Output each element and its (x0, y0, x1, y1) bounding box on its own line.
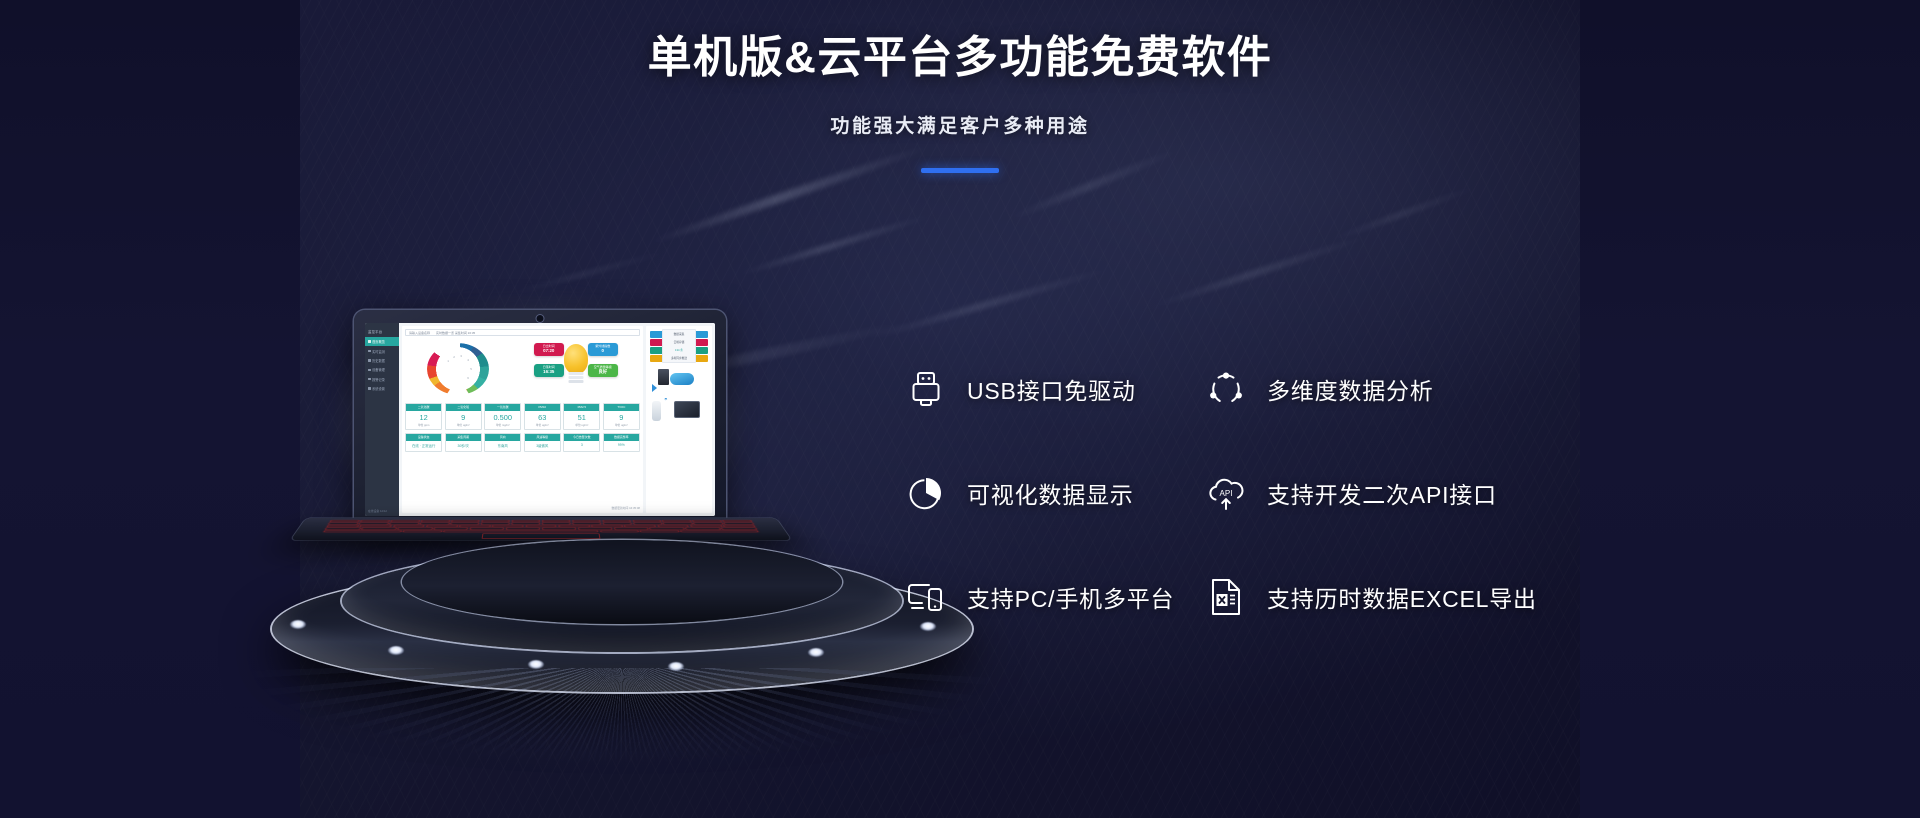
kpi-value: 0.500 (485, 411, 520, 422)
ribbon-note: 多端同步推送 (662, 356, 696, 360)
gear-icon (368, 387, 371, 390)
feature-list: USB接口免驱动 多维度数据分析 (905, 368, 1605, 618)
environment-gauge-chart: 1 2 3 4 5 6 (427, 343, 489, 395)
cloud-api-icon: API (1205, 472, 1247, 514)
kpi-caption: 风向 (485, 434, 520, 441)
feature-label: USB接口免驱动 (967, 372, 1136, 406)
ribbon-title: 数据采集 (662, 332, 696, 336)
usb-icon (905, 368, 947, 410)
server-icon (658, 369, 669, 385)
ribbon-sub: 云端存储 (662, 340, 696, 344)
kpi-card: 数据完整率99% (603, 433, 640, 452)
feature-label: 支持历时数据EXCEL导出 (1267, 580, 1537, 614)
devices-icon (905, 576, 947, 618)
pedestal-led (920, 622, 936, 631)
dashboard-toolbar[interactable]: 请输入设备名称 实时数据一览 采集时间 16:35 (405, 329, 640, 336)
info-bubble: 紫外线指数 0 (588, 343, 618, 356)
wifi-icon: ◓ (664, 397, 668, 403)
kpi-caption: 设备状态 (406, 434, 441, 441)
kpi-card: 设备状态在线 · 正常运行 (405, 433, 442, 452)
display-pedestal (260, 548, 984, 698)
kpi-unit: 单位 ug/m³ (525, 422, 560, 429)
feature-label: 可视化数据显示 (967, 476, 1134, 510)
sidebar-item-label: 设备管理 (372, 367, 385, 372)
lightbulb-base (568, 372, 583, 375)
sidebar-item-label: 系统设置 (372, 386, 385, 391)
cloud-icon (670, 373, 694, 385)
feature-item-multidimensional-analysis[interactable]: 多维度数据分析 (1205, 368, 1585, 410)
pedestal-led (808, 648, 824, 657)
laptop-screen: 监控平台 首页概览 实时监测 历史数据 设备管理 报警记录 系统设置 在线设备 … (365, 323, 715, 516)
sidebar-item-devices[interactable]: 设备管理 (365, 365, 399, 374)
feature-label: 支持开发二次API接口 (1267, 476, 1497, 510)
keyboard (323, 520, 759, 532)
keyboard-row (328, 523, 754, 525)
air-quality-infographic: 日出时间 07:20 紫外线指数 0 日落时间 16:35 (534, 340, 618, 398)
kpi-caption: 数据完整率 (604, 434, 639, 441)
sidebar-item-label: 报警记录 (372, 377, 385, 382)
grid-icon (368, 340, 371, 343)
bell-icon (368, 378, 371, 381)
hero-page: 单机版&云平台多功能免费软件 功能强大满足客户多种用途 监控平台 首页概览 实时… (0, 0, 1920, 818)
sensor-device-icon (652, 401, 661, 421)
laptop-lid: 监控平台 首页概览 实时监测 历史数据 设备管理 报警记录 系统设置 在线设备 … (354, 310, 726, 532)
ribbon-value: 134 条 (662, 348, 696, 352)
pedestal-led (290, 620, 306, 629)
kpi-card: 采集周期30秒/次 (445, 433, 482, 452)
arrow-icon (652, 384, 657, 392)
keyboard-row (325, 528, 757, 530)
pie-chart-icon (905, 472, 947, 514)
accent-divider (921, 168, 999, 173)
kpi-card: 二氧化硫9单位 ug/m³ (445, 403, 482, 430)
chip-icon (368, 369, 371, 372)
dashboard-visuals: 1 2 3 4 5 6 (405, 338, 640, 400)
gauge-tick: 2 (453, 355, 455, 359)
dashboard-brand: 监控平台 (365, 327, 399, 337)
keyboard-row (326, 525, 755, 527)
toolbar-hint: 实时数据一览 采集时间 16:35 (436, 331, 475, 335)
dashboard-right-column: 数据采集 云端存储 134 条 多端同步推送 ◓ (646, 326, 712, 513)
kpi-caption: 二氧化硫 (446, 404, 481, 411)
sidebar-item-label: 历史数据 (372, 358, 385, 363)
svg-text:API: API (1220, 489, 1233, 498)
keyboard-row (323, 530, 759, 532)
sidebar-item-overview[interactable]: 首页概览 (365, 337, 399, 346)
laptop-base (291, 518, 792, 540)
kpi-card: PM2.551单位 ug/m³ (563, 403, 600, 430)
bubble-value: 07:20 (543, 349, 554, 354)
ribbon-infographic: 数据采集 云端存储 134 条 多端同步推送 (650, 329, 708, 363)
sidebar-item-label: 首页概览 (372, 339, 385, 344)
bubble-value: 0 (602, 349, 604, 354)
feature-label: 支持PC/手机多平台 (967, 580, 1174, 614)
kpi-grid-primary: 二氧化碳12单位 ppm 二氧化硫9单位 ug/m³ 一氧化碳0.500单位 m… (405, 403, 640, 430)
kpi-caption: TVOC (604, 404, 639, 411)
gauge-tick: 4 (467, 358, 469, 362)
feature-item-api[interactable]: API 支持开发二次API接口 (1205, 472, 1585, 514)
kpi-unit: 单位 ug/m³ (604, 422, 639, 429)
search-input[interactable]: 请输入设备名称 (409, 331, 430, 335)
dashboard-footer-note: 数据更新时间 16:35:08 (405, 506, 640, 510)
kpi-caption: 采集周期 (446, 434, 481, 441)
page-subtitle: 功能强大满足客户多种用途 (0, 111, 1920, 138)
tablet-icon (674, 401, 700, 418)
kpi-value: 99% (604, 441, 639, 450)
pedestal-floor-rays (242, 668, 1002, 764)
sidebar-item-settings[interactable]: 系统设置 (365, 384, 399, 393)
kpi-card: 今日告警次数3 (563, 433, 600, 452)
kpi-card: 一氧化碳0.500单位 mg/m³ (484, 403, 521, 430)
bubble-value: 16:35 (543, 370, 554, 375)
device-illustration: ◓ (650, 397, 708, 423)
feature-item-visualization[interactable]: 可视化数据显示 (905, 472, 1205, 514)
kpi-value: 在线 · 正常运行 (406, 441, 441, 451)
kpi-value: 12 (406, 411, 441, 422)
kpi-value: 9 (604, 411, 639, 422)
bubble-value: 良好 (598, 370, 607, 375)
gauge-notch (445, 377, 471, 397)
page-title: 单机版&云平台多功能免费软件 (0, 30, 1920, 85)
kpi-value: 3级微风 (525, 441, 560, 451)
kpi-caption: 风速等级 (525, 434, 560, 441)
kpi-unit: 单位 ppm (406, 422, 441, 429)
info-bubble: 日落时间 16:35 (534, 364, 564, 377)
kpi-card: PM1063单位 ug/m³ (524, 403, 561, 430)
server-cloud-illustration (650, 367, 708, 393)
feature-item-excel-export[interactable]: 支持历时数据EXCEL导出 (1205, 576, 1585, 618)
kpi-unit: 单位 mg/m³ (485, 422, 520, 429)
kpi-value: 东南风 (485, 441, 520, 451)
kpi-card: 风向东南风 (484, 433, 521, 452)
sidebar-footer-status: 在线设备 12/12 (365, 506, 399, 516)
trackpad (482, 533, 601, 538)
kpi-caption: 今日告警次数 (564, 434, 599, 441)
dashboard-main: 请输入设备名称 实时数据一览 采集时间 16:35 1 2 (399, 323, 715, 516)
laptop-stage: 监控平台 首页概览 实时监测 历史数据 设备管理 报警记录 系统设置 在线设备 … (292, 320, 952, 740)
sidebar-item-history[interactable]: 历史数据 (365, 356, 399, 365)
kpi-value: 9 (446, 411, 481, 422)
kpi-value: 51 (564, 411, 599, 422)
dashboard-left-column: 请输入设备名称 实时数据一览 采集时间 16:35 1 2 (402, 326, 643, 513)
feature-item-multiplatform[interactable]: 支持PC/手机多平台 (905, 576, 1205, 618)
kpi-value: 3 (564, 441, 599, 450)
kpi-card: 风速等级3级微风 (524, 433, 561, 452)
pedestal-led (388, 646, 404, 655)
kpi-caption: PM2.5 (564, 404, 599, 411)
hero-header: 单机版&云平台多功能免费软件 功能强大满足客户多种用途 (0, 0, 1920, 173)
gauge-tick: 6 (467, 376, 469, 380)
kpi-value: 63 (525, 411, 560, 422)
kpi-unit: 单位 ug/m³ (446, 422, 481, 429)
gauge-tick: 5 (470, 367, 472, 371)
sidebar-item-alarms[interactable]: 报警记录 (365, 375, 399, 384)
clock-icon (368, 359, 371, 362)
feature-label: 多维度数据分析 (1267, 372, 1434, 406)
info-bubble: 日出时间 07:20 (534, 343, 564, 356)
kpi-value: 30秒/次 (446, 441, 481, 451)
kpi-card: TVOC9单位 ug/m³ (603, 403, 640, 430)
kpi-unit: 单位 ug/m³ (564, 422, 599, 429)
feature-item-usb[interactable]: USB接口免驱动 (905, 368, 1205, 410)
gauge-tick: 3 (460, 354, 462, 358)
kpi-card: 二氧化碳12单位 ppm (405, 403, 442, 430)
excel-file-icon (1205, 576, 1247, 618)
sidebar-item-realtime[interactable]: 实时监测 (365, 346, 399, 355)
kpi-caption: 二氧化碳 (406, 404, 441, 411)
gauge-tick: 1 (447, 359, 449, 363)
pulse-icon (368, 350, 371, 353)
kpi-grid-secondary: 设备状态在线 · 正常运行 采集周期30秒/次 风向东南风 风速等级3级微风 今… (405, 433, 640, 452)
dashboard-sidebar: 监控平台 首页概览 实时监测 历史数据 设备管理 报警记录 系统设置 在线设备 … (365, 323, 399, 516)
info-bubble: 空气质量等级 良好 (588, 364, 618, 377)
network-nodes-icon (1205, 368, 1247, 410)
pedestal-ring-inner (402, 540, 842, 624)
kpi-caption: PM10 (525, 404, 560, 411)
kpi-caption: 一氧化碳 (485, 404, 520, 411)
lightbulb-icon (564, 344, 588, 374)
sidebar-item-label: 实时监测 (372, 349, 385, 354)
webcam-icon (537, 315, 544, 322)
